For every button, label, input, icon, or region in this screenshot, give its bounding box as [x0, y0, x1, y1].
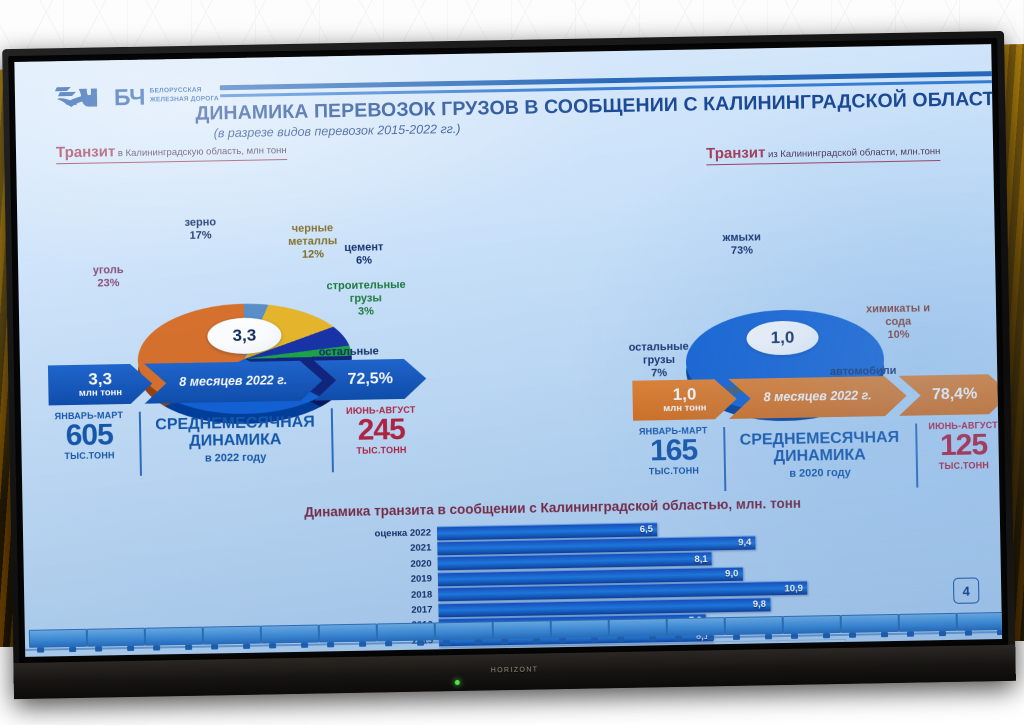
stat-outbound-jan-mar-unit: ТЫС.ТОНН: [628, 466, 720, 477]
train-wheel: [301, 643, 308, 648]
section-heading-inbound-rest: в Калининградскую область, млн тонн: [115, 145, 287, 159]
pie-label-name: жмыхи: [712, 231, 772, 245]
pie-chart-outbound: 1,0 жмыхи73%химикаты и сода10%автомобили…: [678, 241, 890, 370]
train-wheel: [327, 642, 334, 647]
stat-outbound-middle-line3: в 2020 году: [730, 466, 910, 481]
tv-screen: БЧ БЕЛОРУССКАЯ ЖЕЛЕЗНАЯ ДОРОГА ДИНАМИКА …: [14, 44, 1002, 657]
chevron-inbound-volume-value: 3,3: [78, 370, 122, 389]
chevron-outbound-volume-value: 1,0: [663, 385, 707, 404]
pie-label-name: строительные грузы: [326, 279, 404, 306]
bar-value-label: 9,4: [738, 537, 751, 548]
bch-logo-icon: [55, 82, 110, 113]
pie-label-name: уголь: [78, 264, 138, 278]
bar-value-label: 8,1: [694, 554, 707, 565]
train-wheel: [475, 640, 482, 645]
stat-outbound-jan-mar: ЯНВАРЬ-МАРТ 165 ТЫС.ТОНН: [627, 426, 720, 477]
chevron-inbound-period-label: 8 месяцев 2022 г.: [179, 374, 287, 389]
train-wheel: [997, 630, 1002, 635]
stat-inbound-middle: СРЕДНЕМЕСЯЧНАЯ ДИНАМИКА в 2022 году: [145, 414, 326, 465]
stat-inbound-jan-mar-value: 605: [43, 420, 136, 452]
tv-brand-label: HORIZONT: [491, 666, 539, 674]
train-wheel: [881, 632, 888, 637]
chevron-outbound-share-value: 78,4%: [932, 386, 978, 404]
stat-outbound-jan-mar-value: 165: [627, 435, 720, 467]
train-wheel: [127, 646, 134, 651]
stat-outbound-middle-line2: ДИНАМИКА: [730, 446, 910, 466]
stat-outbound-jun-aug-value: 125: [917, 430, 1002, 462]
chevron-inbound-volume: 3,3 млн тонн: [48, 364, 153, 406]
logo-bch-text: БЧ: [114, 85, 145, 109]
pie-label-2: химикаты и сода10%: [865, 302, 932, 342]
chevron-outbound-volume-unit: млн тонн: [663, 403, 706, 414]
train-wagon: [841, 614, 899, 633]
pie-label-value: 73%: [712, 244, 772, 258]
pie-label-4: строительные грузы3%: [326, 279, 405, 319]
chevron-outbound-period: 8 месяцев 2022 г.: [728, 376, 907, 419]
pie-label-value: 3%: [327, 305, 405, 319]
chevron-outbound-period-label: 8 месяцев 2022 г.: [764, 390, 872, 405]
train-wagon: [725, 616, 783, 635]
train-wheel: [359, 642, 366, 647]
bar-value-label: 9,0: [725, 569, 738, 580]
pie-label-1: зерно17%: [165, 216, 235, 243]
train-wheel: [69, 647, 76, 652]
bar-category-label: 2021: [353, 543, 437, 556]
pie-label-name: химикаты и сода: [865, 302, 931, 329]
bar-category-label: 2017: [354, 604, 438, 617]
train-wheel: [533, 638, 540, 643]
divider-outbound-left: [723, 427, 726, 491]
train-wagon: [957, 612, 1002, 631]
chevron-inbound-period: 8 месяцев 2022 г.: [144, 360, 323, 403]
train-wheel: [243, 644, 250, 649]
train-wagon: [319, 623, 377, 642]
train-wheel: [765, 634, 772, 639]
train-wheel: [965, 631, 972, 636]
pie-label-1: жмыхи73%: [712, 231, 772, 258]
train-wheel: [939, 631, 946, 636]
bar-category-label: 2019: [354, 574, 438, 587]
presentation-slide: БЧ БЕЛОРУССКАЯ ЖЕЛЕЗНАЯ ДОРОГА ДИНАМИКА …: [14, 44, 1002, 657]
bar-category-label: оценка 2022: [353, 527, 437, 540]
train-wagon: [145, 627, 203, 646]
logo-letters: БЧ: [114, 85, 145, 109]
bar-value-label: 6,5: [640, 524, 653, 535]
train-wagon: [261, 625, 319, 644]
bar-value-label: 10,9: [784, 583, 803, 594]
train-wagon: [435, 621, 493, 640]
stat-inbound-middle-line2: ДИНАМИКА: [145, 431, 325, 451]
train-wagon: [783, 615, 841, 634]
train-wheel: [907, 632, 914, 637]
train-wheel: [707, 635, 714, 640]
train-wagon: [87, 628, 145, 647]
train-wheel: [559, 638, 566, 643]
train-wheel: [153, 645, 160, 650]
stat-outbound-jun-aug: ИЮНЬ-АВГУСТ 125 ТЫС.ТОНН: [917, 421, 1002, 472]
train-wheel: [649, 636, 656, 641]
pie-label-value: 6%: [334, 254, 394, 268]
section-heading-inbound: Транзит в Калининградскую область, млн т…: [56, 140, 287, 164]
pie-label-3: цемент6%: [334, 241, 394, 268]
section-heading-outbound-rest: из Калининградской области, млн.тонн: [765, 146, 940, 160]
power-led-icon: [455, 680, 460, 685]
pie-label-name: остальные грузы: [616, 340, 702, 368]
stat-inbound-jun-aug: ИЮНЬ-АВГУСТ 245 ТЫС.ТОНН: [335, 406, 428, 457]
bar-chart-title: Динамика транзита в сообщении с Калининг…: [233, 494, 873, 521]
train-wheel: [501, 639, 508, 644]
train-wagon: [203, 626, 261, 645]
chevron-inbound-share-value: 72,5%: [347, 370, 393, 388]
chevron-outbound-share: 78,4%: [898, 374, 1002, 416]
section-heading-outbound: Транзит из Калининградской области, млн.…: [706, 141, 941, 165]
train-wagon: [493, 620, 551, 639]
train-wagon: [899, 613, 957, 632]
train-wagon: [667, 617, 725, 636]
divider-inbound-left: [139, 412, 142, 476]
pie-label-7: уголь23%: [78, 264, 138, 291]
stat-outbound-jun-aug-unit: ТЫС.ТОНН: [918, 461, 1002, 472]
train-wheel: [617, 637, 624, 642]
page-number-badge: 4: [953, 577, 979, 603]
section-heading-inbound-strong: Транзит: [56, 143, 115, 161]
pie-label-value: 7%: [616, 366, 702, 381]
train-wheel: [849, 633, 856, 638]
stat-outbound-middle: СРЕДНЕМЕСЯЧНАЯ ДИНАМИКА в 2020 году: [729, 430, 910, 481]
stat-inbound-jun-aug-unit: ТЫС.ТОНН: [335, 445, 427, 456]
pie-label-name: зерно: [165, 216, 235, 230]
pie-chart-inbound: 3,3 зерно17%черные металлы12%цемент6%стр…: [127, 228, 359, 367]
bar-value-label: 9,8: [753, 599, 766, 610]
section-heading-outbound-strong: Транзит: [706, 144, 765, 162]
bar-category-label: 2018: [354, 589, 438, 602]
bar-category-label: 2020: [354, 558, 438, 571]
train-wheel: [591, 637, 598, 642]
stat-inbound-jan-mar: ЯНВАРЬ-МАРТ 605 ТЫС.ТОНН: [43, 411, 136, 462]
train-wheel: [269, 643, 276, 648]
divider-inbound-right: [331, 408, 334, 472]
train-wagon: [29, 629, 87, 648]
stat-inbound-jun-aug-value: 245: [335, 415, 428, 447]
train-wagon: [551, 619, 609, 638]
chevron-inbound-volume-unit: млн тонн: [79, 388, 122, 399]
train-wheel: [185, 645, 192, 650]
train-wheel: [791, 634, 798, 639]
train-wheel: [417, 641, 424, 646]
stat-inbound-middle-line3: в 2022 году: [146, 451, 326, 466]
pie-label-name: цемент: [334, 241, 394, 255]
train-wagon: [377, 622, 435, 641]
pie-label-5: остальные грузы7%: [616, 340, 703, 380]
train-wheel: [211, 644, 218, 649]
pie-label-value: 17%: [165, 229, 235, 243]
train-wheel: [675, 636, 682, 641]
train-wheel: [95, 647, 102, 652]
train-wheel: [385, 641, 392, 646]
train-wheel: [823, 633, 830, 638]
train-wheel: [37, 648, 44, 653]
television: БЧ БЕЛОРУССКАЯ ЖЕЛЕЗНАЯ ДОРОГА ДИНАМИКА …: [2, 31, 1016, 699]
train-wagon: [609, 618, 667, 637]
train-wheel: [443, 640, 450, 645]
stat-inbound-jan-mar-unit: ТЫС.ТОНН: [44, 451, 136, 462]
pie-label-value: 23%: [78, 277, 138, 291]
train-wheel: [733, 635, 740, 640]
pie-label-value: 10%: [865, 328, 931, 342]
